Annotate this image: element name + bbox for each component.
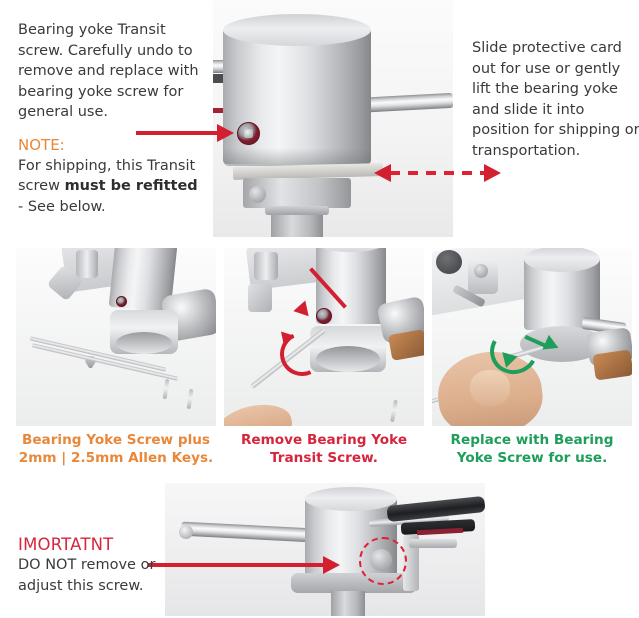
caption-allen-keys-line1: Bearing Yoke Screw plus [16, 431, 216, 449]
top-left-text-block: Bearing yoke Transit screw. Carefully un… [18, 20, 204, 217]
panel2-red-transit-screw [316, 308, 332, 324]
do-not-adjust-arrow-shaft [148, 563, 324, 567]
transit-screw-paragraph: Bearing yoke Transit screw. Carefully un… [18, 20, 204, 123]
caption-replace-screw: Replace with Bearing Yoke Screw for use. [432, 431, 632, 467]
panel3-thumbnail [470, 370, 510, 406]
panel3-copper-block [592, 349, 632, 380]
bearing-housing-top [223, 14, 371, 46]
caption-remove-screw-line2: Transit Screw. [224, 449, 424, 467]
panel1-red-transit-screw [116, 296, 127, 307]
bottom-bracket-arm [409, 539, 457, 548]
panel2-copper-block [388, 329, 424, 361]
photo-panel-remove-screw [224, 248, 424, 426]
hero-photo-bearing-yoke [213, 0, 453, 237]
panel2-bracket [248, 284, 272, 312]
bottom-rod-endcap [179, 525, 193, 539]
bottom-cylinder-top [305, 487, 397, 511]
transit-screw-arrow-shaft [136, 131, 218, 135]
note-label: NOTE: [18, 135, 204, 156]
lower-fixing-screw [249, 186, 266, 203]
panel1-counterweight-post [76, 250, 98, 278]
caption-allen-keys: Bearing Yoke Screw plus 2mm | 2.5mm Alle… [16, 431, 216, 467]
caption-replace-screw-line2: Yoke Screw for use. [432, 449, 632, 467]
note-tail-text: - See below. [18, 199, 106, 215]
photo-panel-do-not-adjust [165, 483, 485, 616]
base-collar [265, 206, 329, 215]
warning-line-2: adjust this screw. [18, 576, 168, 597]
bottom-warning-text-block: IMORTATNT DO NOT remove or adjust this s… [18, 534, 168, 596]
panel1-bearing-cup [116, 332, 172, 354]
card-arrow-shaft [390, 171, 484, 175]
do-not-adjust-arrow-head [323, 556, 340, 574]
panel3-dark-knob [436, 250, 462, 274]
panel3-post-screw [474, 264, 488, 278]
card-arrow-head-right [484, 164, 501, 182]
caption-remove-screw-line1: Remove Bearing Yoke [224, 431, 424, 449]
dashed-circle-highlight [359, 537, 407, 585]
photo-panel-replace-screw [432, 248, 632, 426]
note-bold-text: must be refitted [65, 178, 198, 194]
caption-remove-screw: Remove Bearing Yoke Transit Screw. [224, 431, 424, 467]
panel2-counterweight-post [254, 252, 278, 280]
photo-panel-allen-keys [16, 248, 216, 426]
caption-allen-keys-line2: 2mm | 2.5mm Allen Keys. [16, 449, 216, 467]
caption-replace-screw-line1: Replace with Bearing [432, 431, 632, 449]
important-label: IMORTATNT [18, 534, 168, 555]
transit-screw-hex-socket [244, 129, 253, 138]
panel2-bearing-cup [316, 346, 380, 372]
instruction-sheet: Bearing yoke Transit screw. Carefully un… [0, 0, 639, 618]
card-arrow-head-left [374, 164, 391, 182]
top-right-text-block: Slide protective card out for use or gen… [472, 38, 639, 162]
warning-line-1: DO NOT remove or [18, 555, 168, 576]
transit-screw-arrow-head [217, 124, 234, 142]
note-paragraph: For shipping, this Transit screw must be… [18, 156, 204, 218]
protective-card-paragraph: Slide protective card out for use or gen… [472, 38, 639, 162]
bottom-base-column [331, 591, 365, 616]
